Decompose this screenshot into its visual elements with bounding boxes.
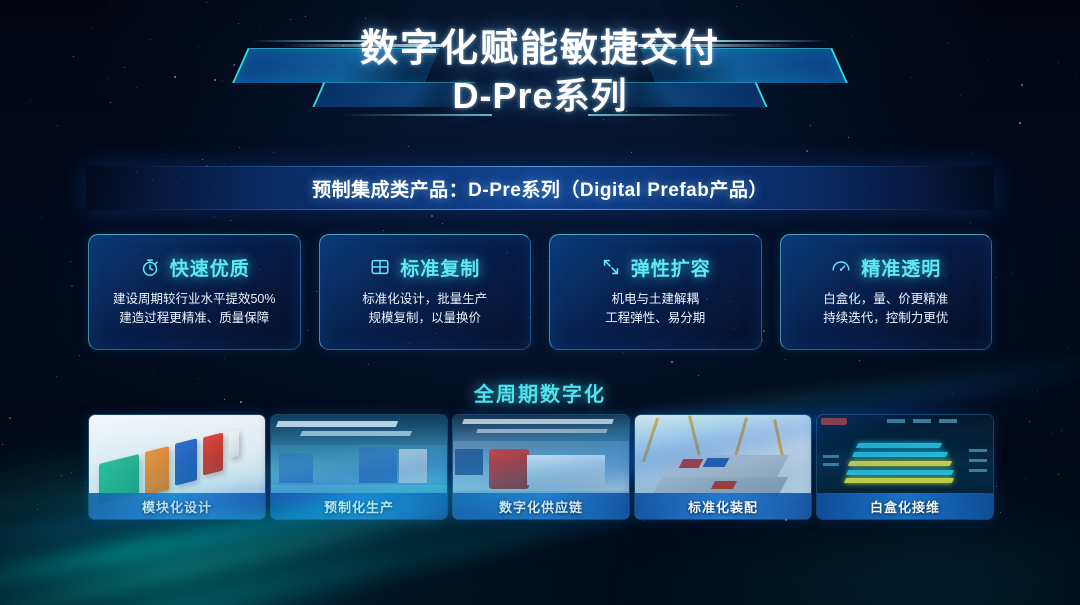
section-heading-lifecycle: 全周期数字化: [0, 378, 1080, 407]
thumbnail-digital-supply-chain[interactable]: 数字化供应链: [452, 414, 630, 520]
title-block: 数字化赋能敏捷交付 D-Pre系列: [0, 22, 1080, 140]
feature-card-title: 弹性扩容: [631, 254, 711, 281]
page-title: 数字化赋能敏捷交付: [0, 28, 1080, 72]
thumbnail-label: 数字化供应链: [453, 493, 629, 519]
module-grid-icon: [369, 256, 391, 278]
feature-desc-line-1: 白盒化，量、价更精准: [823, 290, 948, 309]
feature-desc-line-2: 持续迭代，控制力更优: [823, 309, 948, 328]
feature-card-description: 建设周期较行业水平提效50% 建造过程更精准、质量保障: [113, 290, 276, 329]
feature-card-title: 精准透明: [861, 254, 941, 281]
product-band-text: 预制集成类产品：D-Pre系列（Digital Prefab产品）: [312, 175, 768, 202]
feature-card-title: 快速优质: [170, 254, 250, 281]
stopwatch-icon: [139, 256, 161, 278]
feature-desc-line-1: 标准化设计，批量生产: [362, 290, 487, 309]
page-subtitle: D-Pre系列: [0, 74, 1080, 117]
feature-card-description: 机电与土建解耦 工程弹性、易分期: [605, 290, 705, 329]
feature-card-list: 快速优质 建设周期较行业水平提效50% 建造过程更精准、质量保障 标准复制 标准…: [88, 234, 992, 350]
feature-card-standard-replication[interactable]: 标准复制 标准化设计，批量生产 规模复制，以量换价: [319, 234, 532, 350]
feature-desc-line-1: 建设周期较行业水平提效50%: [113, 290, 276, 309]
feature-card-fast-quality[interactable]: 快速优质 建设周期较行业水平提效50% 建造过程更精准、质量保障: [88, 234, 301, 350]
gauge-icon: [830, 256, 852, 278]
feature-desc-line-1: 机电与土建解耦: [605, 290, 705, 309]
feature-card-accurate-transparent[interactable]: 精准透明 白盒化，量、价更精准 持续迭代，控制力更优: [780, 234, 993, 350]
feature-card-description: 白盒化，量、价更精准 持续迭代，控制力更优: [823, 290, 948, 329]
expand-arrows-icon: [600, 256, 622, 278]
feature-desc-line-2: 规模复制，以量换价: [362, 309, 487, 328]
product-band: 预制集成类产品：D-Pre系列（Digital Prefab产品）: [86, 166, 994, 210]
feature-card-elastic-expansion[interactable]: 弹性扩容 机电与土建解耦 工程弹性、易分期: [549, 234, 762, 350]
slide-canvas: 数字化赋能敏捷交付 D-Pre系列 预制集成类产品：D-Pre系列（Digita…: [0, 0, 1080, 605]
feature-desc-line-2: 建造过程更精准、质量保障: [113, 309, 276, 328]
feature-card-title: 标准复制: [400, 254, 480, 281]
feature-card-description: 标准化设计，批量生产 规模复制，以量换价: [362, 290, 487, 329]
feature-desc-line-2: 工程弹性、易分期: [605, 309, 705, 328]
